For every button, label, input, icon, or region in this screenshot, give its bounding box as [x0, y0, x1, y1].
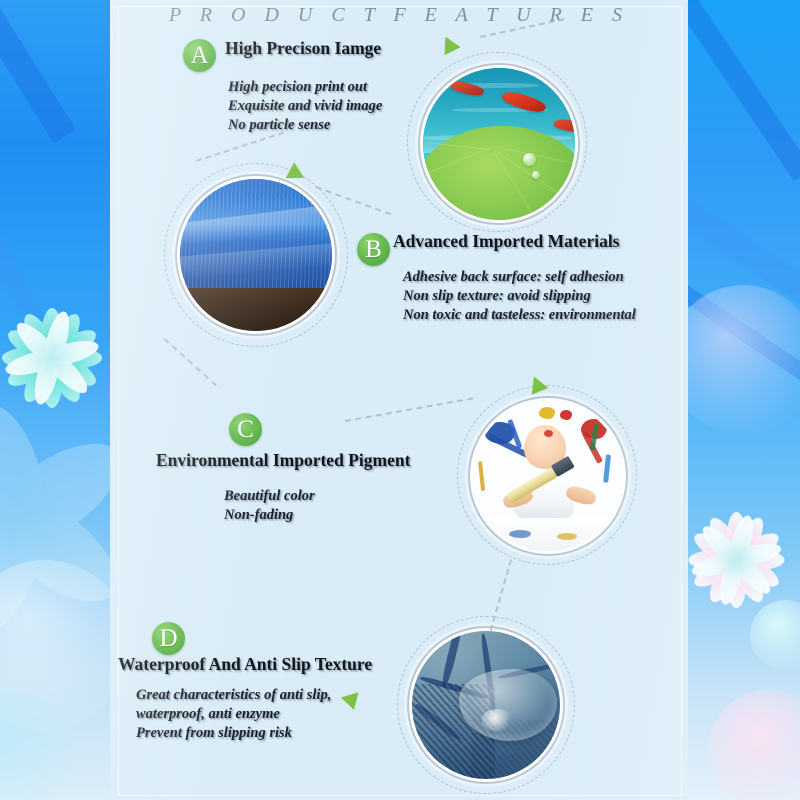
paint-splatter	[478, 461, 485, 491]
photo-a	[423, 68, 575, 220]
border-blob	[708, 690, 800, 800]
right-decorative-border	[688, 0, 800, 800]
badge-c: C	[229, 413, 262, 446]
paint-floor	[473, 518, 623, 551]
paint-on-face	[544, 430, 553, 437]
body-b-line: Non toxic and tasteless: environmental	[403, 306, 636, 325]
paint-splatter	[557, 533, 577, 540]
heading-b: Advanced Imported Materials	[393, 231, 620, 252]
paint-splatter	[560, 410, 572, 420]
border-stripe	[0, 120, 53, 341]
border-stripe	[0, 0, 76, 143]
photo-d	[412, 631, 560, 779]
badge-b: B	[357, 233, 390, 266]
body-c: Beautiful color Non-fading	[224, 487, 315, 525]
paint-splatter	[539, 407, 555, 419]
border-stripe	[688, 0, 800, 181]
badge-d: D	[152, 622, 185, 655]
body-b-line: Adhesive back surface: self adhesion	[403, 268, 636, 287]
paint-splatter	[509, 530, 531, 538]
left-decorative-border	[0, 0, 110, 800]
body-b: Adhesive back surface: self adhesion Non…	[403, 268, 636, 325]
heading-d: Waterproof And Anti Slip Texture	[118, 654, 372, 675]
page-title: P R O D U C T F E A T U R E S	[110, 4, 688, 27]
badge-a: A	[183, 39, 216, 72]
body-d-line: Great characteristics of anti slip,	[136, 686, 331, 705]
heading-a: High Precison Iamge	[225, 38, 381, 59]
border-blob	[688, 285, 800, 435]
body-d-line: Prevent from slipping risk	[136, 724, 331, 743]
body-c-line: Beautiful color	[224, 487, 315, 506]
heading-c: Environmental Imported Pigment	[156, 450, 410, 471]
body-c-line: Non-fading	[224, 506, 315, 525]
body-a: High pecision print out Exquisite and vi…	[228, 78, 382, 135]
paint-splatter	[603, 454, 611, 482]
photo-c	[473, 401, 623, 551]
lily-pad	[423, 126, 575, 220]
body-a-line: High pecision print out	[228, 78, 382, 97]
body-b-line: Non slip texture: avoid slipping	[403, 287, 636, 306]
body-a-line: Exquisite and vivid image	[228, 97, 382, 116]
border-blob	[750, 600, 800, 670]
table-surface	[180, 288, 332, 331]
body-d-line: waterproof, anti enzyme	[136, 705, 331, 724]
product-features-infographic: P R O D U C T F E A T U R E S A High Pre…	[0, 0, 800, 800]
body-a-line: No particle sense	[228, 116, 382, 135]
body-d: Great characteristics of anti slip, wate…	[136, 686, 331, 743]
photo-b	[180, 179, 332, 331]
